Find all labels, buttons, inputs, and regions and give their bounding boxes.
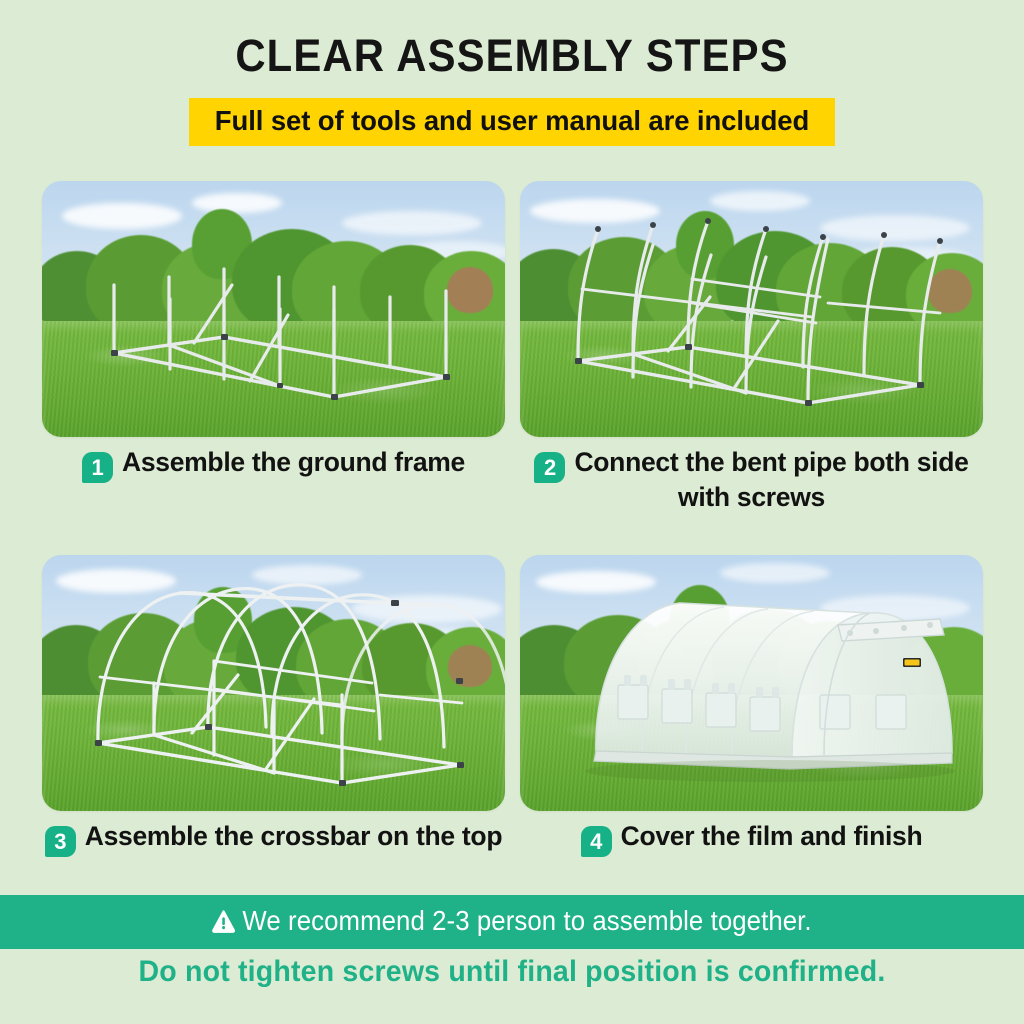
step-card-2: 2Connect the bent pipe both side with sc… bbox=[520, 181, 983, 511]
step-caption-3: 3Assemble the crossbar on the top bbox=[42, 822, 505, 857]
page-title: CLEAR ASSEMBLY STEPS bbox=[36, 30, 988, 82]
frame-diagram-3 bbox=[42, 555, 505, 811]
step-badge-3: 3 bbox=[45, 826, 76, 857]
step-label-2: Connect the bent pipe both side with scr… bbox=[574, 447, 968, 512]
step-label-4: Cover the film and finish bbox=[621, 821, 923, 851]
step-label-3: Assemble the crossbar on the top bbox=[85, 821, 502, 851]
step-caption-2: 2Connect the bent pipe both side with sc… bbox=[520, 448, 983, 511]
frame-diagram-1 bbox=[42, 181, 505, 437]
warning-triangle-icon bbox=[212, 908, 235, 940]
step-badge-2: 2 bbox=[534, 452, 565, 483]
step-badge-4: 4 bbox=[581, 826, 612, 857]
step-photo-2 bbox=[520, 181, 983, 437]
frame-diagram-2 bbox=[520, 181, 983, 437]
step-photo-4 bbox=[520, 555, 983, 811]
recommendation-row: We recommend 2-3 person to assemble toge… bbox=[212, 905, 812, 940]
final-note: Do not tighten screws until final positi… bbox=[26, 955, 999, 989]
subtitle-banner-wrap: Full set of tools and user manual are in… bbox=[0, 98, 1024, 146]
assembly-steps-grid: 1Assemble the ground frame bbox=[42, 181, 983, 857]
greenhouse-covered-4 bbox=[520, 555, 983, 811]
subtitle-banner: Full set of tools and user manual are in… bbox=[189, 98, 835, 146]
step-badge-1: 1 bbox=[82, 452, 113, 483]
step-card-1: 1Assemble the ground frame bbox=[42, 181, 505, 511]
step-caption-4: 4Cover the film and finish bbox=[520, 822, 983, 857]
step-label-1: Assemble the ground frame bbox=[122, 447, 465, 477]
step-photo-1 bbox=[42, 181, 505, 437]
recommendation-text: We recommend 2-3 person to assemble toge… bbox=[243, 905, 812, 936]
step-card-4: 4Cover the film and finish bbox=[520, 555, 983, 857]
step-photo-3 bbox=[42, 555, 505, 811]
step-card-3: 3Assemble the crossbar on the top bbox=[42, 555, 505, 857]
recommendation-banner: We recommend 2-3 person to assemble toge… bbox=[0, 895, 1024, 949]
step-caption-1: 1Assemble the ground frame bbox=[42, 448, 505, 483]
